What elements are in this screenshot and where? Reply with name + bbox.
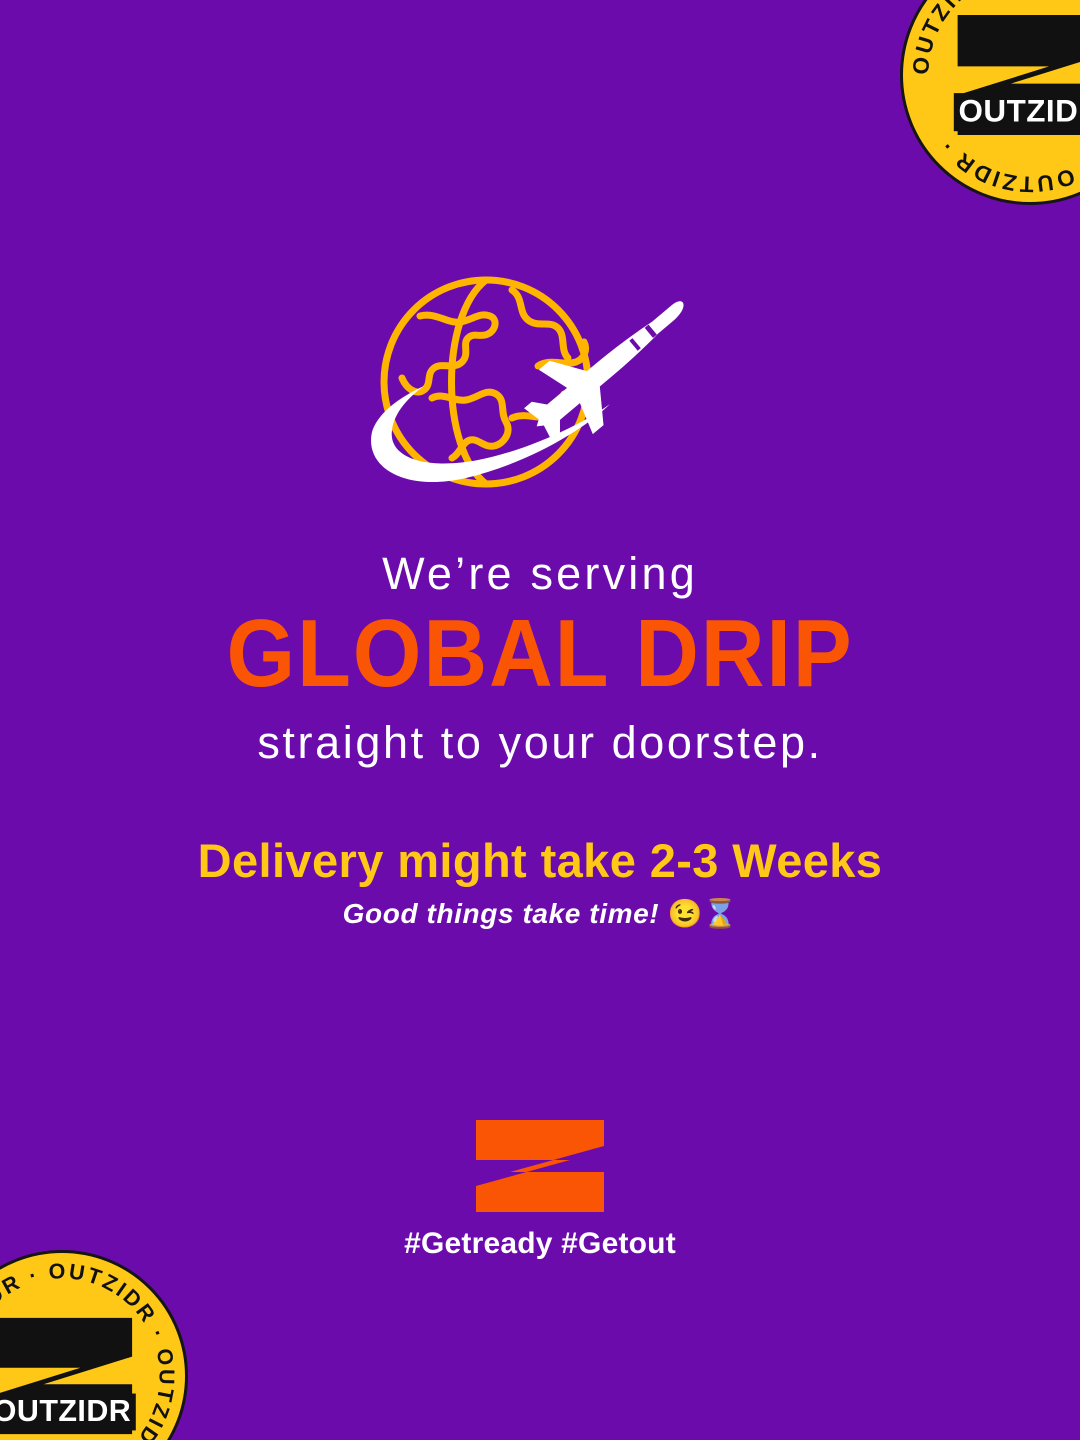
- badge-z-mark-bottom-left: OUTZIDR: [0, 1312, 136, 1440]
- globe-airplane-illustration: [362, 272, 718, 508]
- page-title: GLOBAL DRIP: [43, 606, 1037, 702]
- badge-z-mark-top-right: OUTZIDR: [954, 9, 1080, 141]
- poster-canvas: OUTZIDR · OUTZIDR · OUTZIDR · OUTZIDR · …: [0, 0, 1080, 1440]
- subhead-text: straight to your doorstep.: [0, 716, 1080, 769]
- eyebrow-text: We’re serving: [0, 548, 1080, 600]
- globe-icon: [384, 280, 588, 484]
- wink-hourglass-emoji: 😉⌛: [668, 898, 738, 929]
- outzidr-badge-top-right: OUTZIDR · OUTZIDR · OUTZIDR · OUTZIDR · …: [900, 0, 1080, 205]
- badge-wordmark-tr: OUTZIDR: [959, 94, 1080, 129]
- badge-wordmark-bl: OUTZIDR: [0, 1394, 131, 1428]
- headline-copy-block: We’re serving GLOBAL DRIP straight to yo…: [0, 548, 1080, 931]
- delivery-notice: Delivery might take 2-3 Weeks: [0, 835, 1080, 887]
- outzidr-badge-bottom-left: OUTZIDR · OUTZIDR · OUTZIDR · OUTZIDR · …: [0, 1250, 188, 1440]
- outzidr-z-logo: [476, 1120, 604, 1212]
- hashtags-text: #Getready #Getout: [0, 1226, 1080, 1262]
- footer-lockup: #Getready #Getout: [0, 1120, 1080, 1262]
- reassurance-text: Good things take time!: [343, 898, 660, 929]
- reassurance-line: Good things take time! 😉⌛: [0, 897, 1080, 931]
